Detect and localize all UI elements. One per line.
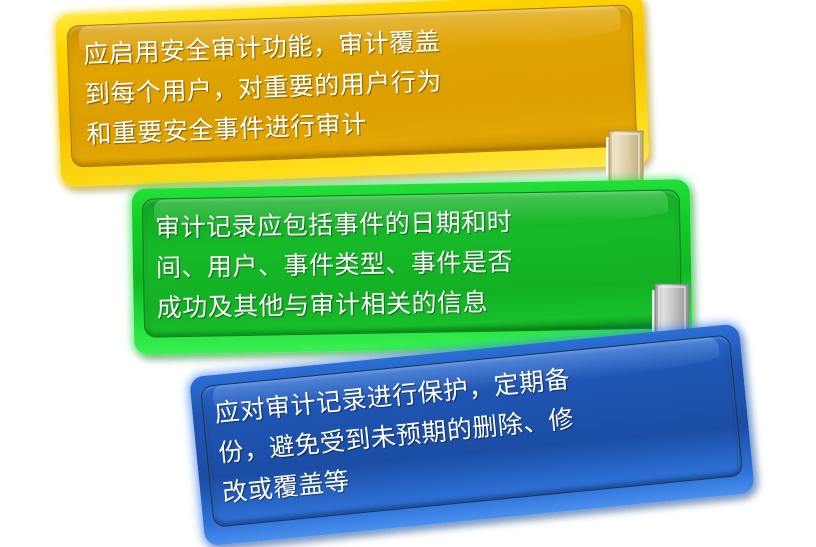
callout-box-audit-enable[interactable]: 应启用安全审计功能，审计覆盖 到每个用户，对重要的用户行为 和重要安全事件进行审…	[55, 0, 649, 187]
callout-box-audit-record-protection[interactable]: 应对审计记录进行保护，定期备 份，避免受到未预期的删除、修 改或覆盖等	[189, 323, 755, 546]
slide-canvas: 应启用安全审计功能，审计覆盖 到每个用户，对重要的用户行为 和重要安全事件进行审…	[0, 0, 816, 524]
callout-box-audit-record-content[interactable]: 审计记录应包括事件的日期和时 间、用户、事件类型、事件是否 成功及其他与审计相关…	[132, 179, 693, 355]
callout-box-fill	[66, 4, 637, 167]
callout-box-fill	[142, 189, 682, 337]
callout-box-fill	[200, 334, 743, 527]
